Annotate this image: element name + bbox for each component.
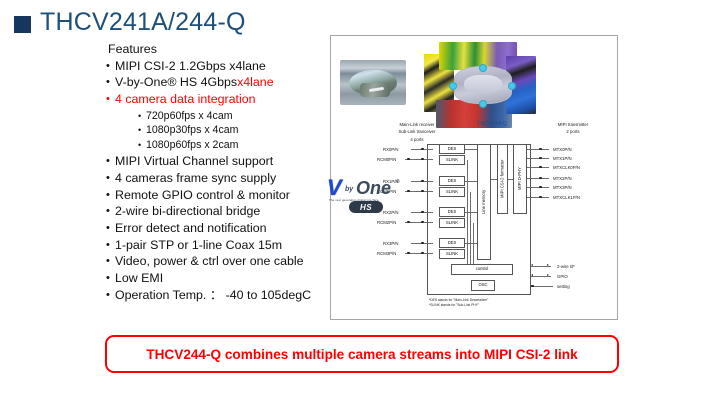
feature-label-highlight: x4lane: [237, 75, 274, 90]
left-pad-1a: [407, 158, 410, 161]
feature-item-8: • 1-pair STP or 1-line Coax 15m: [106, 238, 321, 253]
csi2-formatter-block: MIPI CSI-2 formatter: [497, 144, 508, 214]
side-signal-wire-2: [531, 286, 553, 287]
feature-item-4: • 4 cameras frame sync supply: [106, 171, 321, 186]
side-signal-arrow-0r: [547, 264, 549, 266]
feature-label: MIPI Virtual Channel support: [115, 154, 273, 169]
des-wire-0: [465, 149, 477, 150]
left-pad-7a: [407, 252, 410, 255]
feature-label: Error detect and notification: [115, 221, 267, 236]
chip-name-label: THCV244-Q: [459, 122, 525, 127]
side-signal-arrow-1r: [547, 274, 549, 276]
summary-banner-text: THCV244-Q combines multiple camera strea…: [146, 347, 577, 362]
features-section: Features • MIPI CSI-2 1.2Gbps x4lane • V…: [106, 42, 321, 304]
right-wire-3: [527, 178, 549, 179]
feature-subitem-0: • 720p60fps x 4cam: [138, 109, 321, 123]
slink-block-3: SLINK: [439, 249, 465, 259]
left-pad-3a: [407, 190, 410, 193]
feature-item-7: • Error detect and notification: [106, 221, 321, 236]
right-pin-label-2: MTXCLK0P/N: [553, 165, 580, 170]
title-bullet-icon: [14, 16, 31, 33]
osc-block: OSC: [471, 280, 495, 291]
left-pad-3b: [421, 190, 424, 193]
line-memory-block: Line memory: [477, 144, 491, 260]
list-bullet-icon: •: [106, 59, 115, 74]
list-bullet-icon: •: [138, 109, 146, 123]
right-wire-1: [527, 158, 549, 159]
list-bullet-icon: •: [106, 188, 115, 203]
block-diagram: Main-Link receiver Sub-Link tranceiver 4…: [331, 122, 619, 320]
features-heading: Features: [108, 42, 321, 56]
camera-position-dot-front: [479, 64, 487, 72]
feature-subitem-1: • 1080p30fps x 4cam: [138, 123, 321, 137]
left-pad-4: [421, 211, 424, 214]
logo-one-text: One: [356, 178, 391, 198]
left-pad-6: [421, 242, 424, 245]
right-header-line2: 2 ports: [541, 129, 605, 134]
des-block-3: DES: [439, 238, 465, 248]
list-bullet-icon: •: [106, 204, 115, 219]
slink-bus-0: [467, 160, 468, 266]
feature-item-1: • V-by-One® HS 4Gbps x4lane: [106, 75, 321, 90]
side-signal-label-0: 2-wire I/F: [557, 264, 575, 269]
feature-item-10: • Low EMI: [106, 271, 321, 286]
summary-banner: THCV244-Q combines multiple camera strea…: [105, 335, 619, 373]
right-pin-label-5: MTXCLK1P/N: [553, 195, 580, 200]
slink-block-0: SLINK: [439, 155, 465, 165]
side-signal-arrow-1l: [531, 274, 533, 276]
right-wire-4: [527, 187, 549, 188]
side-signal-label-1: GPIO: [557, 274, 568, 279]
left-pin-label-6: RX3P/N: [383, 241, 399, 246]
logo-v-letter: V: [327, 177, 342, 199]
right-pin-label-0: MTX0P/N: [553, 147, 572, 152]
feature-label: Remote GPIO control & monitor: [115, 188, 290, 203]
left-pin-label-1: RCM0P/N: [377, 157, 396, 162]
left-pad-0: [421, 148, 424, 151]
list-bullet-icon: •: [106, 271, 115, 286]
side-signal-label-2: setting: [557, 284, 570, 289]
list-bullet-icon: •: [106, 154, 115, 169]
feature-label: Operation Temp. ： -40 to 105degC: [115, 288, 311, 303]
feature-label: 4 camera data integration: [115, 92, 256, 107]
feature-subitem-label: 1080p60fps x 2cam: [146, 138, 238, 152]
camera-position-dot-right: [508, 82, 516, 90]
feature-item-0: • MIPI CSI-2 1.2Gbps x4lane: [106, 59, 321, 74]
slink-bus-2: [473, 223, 474, 266]
list-bullet-icon: •: [106, 221, 115, 236]
logo-by-text: by: [345, 186, 353, 193]
left-pin-label-0: RX0P/N: [383, 147, 399, 152]
right-pad-3: [539, 177, 542, 180]
right-pad-5: [539, 196, 542, 199]
list-bullet-icon: •: [106, 75, 115, 90]
left-pad-2: [421, 180, 424, 183]
list-bullet-icon: •: [106, 288, 115, 303]
right-pin-label-3: MTX2P/N: [553, 176, 572, 181]
feature-item-11: • Operation Temp. ： -40 to 105degC: [106, 288, 321, 303]
side-signal-arrow-0l: [531, 264, 533, 266]
control-block: control: [451, 264, 513, 275]
des-block-2: DES: [439, 207, 465, 217]
feature-label: Video, power & ctrl over one cable: [115, 254, 304, 269]
feature-label: 4 cameras frame sync supply: [115, 171, 276, 186]
feature-item-3: • MIPI Virtual Channel support: [106, 154, 321, 169]
camera-position-dot-rear: [479, 100, 487, 108]
slink-bus-1: [470, 192, 471, 266]
list-bullet-icon: •: [138, 123, 146, 137]
list-bullet-icon: •: [106, 238, 115, 253]
left-pin-label-7: RCM3P/N: [377, 251, 396, 256]
feature-subitem-2: • 1080p60fps x 2cam: [138, 138, 321, 152]
right-pad-4: [539, 186, 542, 189]
list-bullet-icon: •: [106, 92, 115, 107]
list-bullet-icon: •: [138, 138, 146, 152]
list-bullet-icon: •: [106, 171, 115, 186]
right-wire-5: [527, 197, 549, 198]
logo-hs-badge: HS: [349, 201, 383, 213]
feature-label: MIPI CSI-2 1.2Gbps x4lane: [115, 59, 266, 74]
feature-label: V-by-One® HS 4Gbps: [115, 75, 237, 90]
slink-block-2: SLINK: [439, 218, 465, 228]
feature-label: 1-pair STP or 1-line Coax 15m: [115, 238, 282, 253]
feature-item-6: • 2-wire bi-directional bridge: [106, 204, 321, 219]
feature-subitem-label: 1080p30fps x 4cam: [146, 123, 238, 137]
side-signal-pad-2: [531, 285, 534, 288]
right-wire-2: [527, 167, 549, 168]
slink-block-1: SLINK: [439, 187, 465, 197]
right-pad-2: [539, 166, 542, 169]
left-header-line2: Sub-Link tranceiver: [387, 129, 447, 134]
right-header-line1: MIPI transmitter: [541, 122, 605, 127]
title-text: THCV241A/244-Q: [40, 8, 246, 37]
left-pad-7b: [421, 252, 424, 255]
lm-to-csi-wire: [491, 179, 497, 180]
left-pad-5b: [421, 221, 424, 224]
footnote-1: *SLINK stands for "Sub-Link PHY": [429, 303, 479, 307]
right-pad-1: [539, 157, 542, 160]
feature-item-5: • Remote GPIO control & monitor: [106, 188, 321, 203]
right-wire-0: [527, 149, 549, 150]
footnote-0: *DES stands for "Main-Link Deserializer": [429, 298, 488, 302]
feature-label: Low EMI: [115, 271, 163, 286]
camera-position-dot-left: [449, 82, 457, 90]
list-bullet-icon: •: [106, 254, 115, 269]
left-pad-5a: [407, 221, 410, 224]
page-title: THCV241A/244-Q: [14, 8, 246, 37]
feature-subitem-label: 720p60fps x 4cam: [146, 109, 233, 123]
des-block-0: DES: [439, 144, 465, 154]
right-pin-label-4: MTX3P/N: [553, 185, 572, 190]
mipi-dphy-block: MIPI D-PHY: [513, 144, 527, 214]
left-header-line1: Main-Link receiver: [387, 122, 447, 127]
v-by-one-hs-logo: V by One ® The next generation digital i…: [325, 176, 403, 214]
des-block-1: DES: [439, 176, 465, 186]
right-pad-0: [539, 148, 542, 151]
left-side-mirror-photo: [340, 60, 406, 105]
right-pin-label-1: MTX1P/N: [553, 156, 572, 161]
left-pad-1b: [421, 158, 424, 161]
logo-registered-icon: ®: [396, 179, 400, 185]
left-header-line3: 4 ports: [387, 137, 447, 142]
feature-item-9: • Video, power & ctrl over one cable: [106, 254, 321, 269]
camera-photo-strip: [336, 40, 614, 128]
left-pin-label-5: RCM2P/N: [377, 220, 396, 225]
feature-item-2: • 4 camera data integration: [106, 92, 321, 107]
car-window: [464, 75, 502, 93]
csi-to-dphy-wire: [508, 179, 513, 180]
feature-label: 2-wire bi-directional bridge: [115, 204, 260, 219]
